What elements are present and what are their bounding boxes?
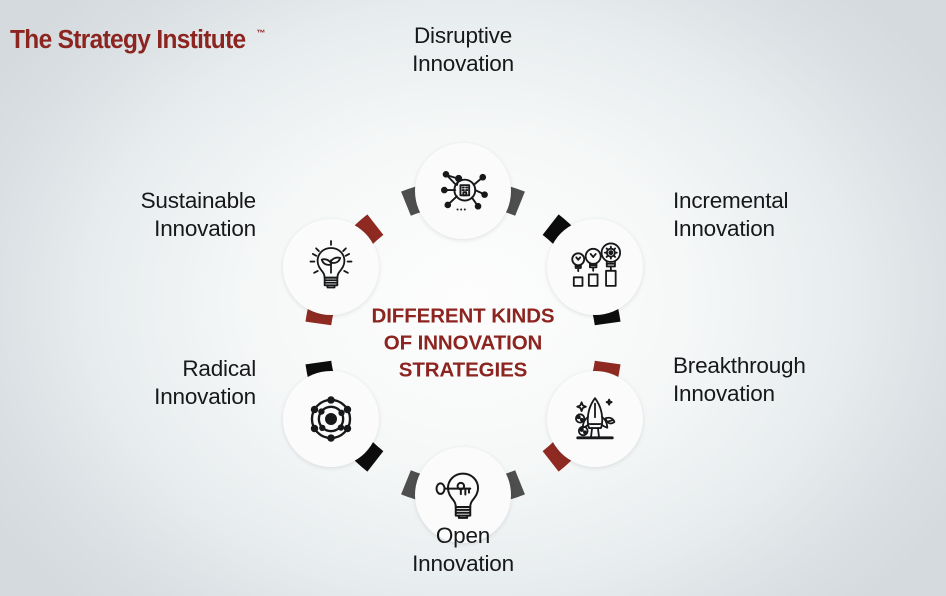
label-incremental: Incremental Innovation [673, 187, 788, 244]
label-sustainable: Sustainable Innovation [141, 187, 256, 244]
atom-molecule-icon [302, 390, 360, 448]
label-open-line-2: Innovation [412, 550, 514, 578]
innovation-strategies-wheel: DIFFERENT KINDS OF INNOVATION STRATEGIES [253, 133, 673, 553]
bulb-plant-icon [302, 238, 360, 296]
label-disruptive-line-2: Innovation [412, 50, 514, 78]
label-open-line-1: Open [412, 522, 514, 550]
brand-name: The Strategy Institute [10, 28, 246, 54]
label-sustainable-line-1: Sustainable [141, 187, 256, 215]
label-radical-line-1: Radical [154, 355, 256, 383]
label-sustainable-line-2: Innovation [141, 215, 256, 243]
node-sustainable[interactable] [283, 219, 379, 315]
label-breakthrough: Breakthrough Innovation [673, 352, 806, 409]
label-breakthrough-line-2: Innovation [673, 380, 806, 408]
node-incremental[interactable] [547, 219, 643, 315]
label-radical-line-2: Innovation [154, 383, 256, 411]
label-open: Open Innovation [412, 522, 514, 579]
node-disruptive[interactable] [415, 143, 511, 239]
node-breakthrough[interactable] [547, 371, 643, 467]
growing-bulbs-chart-icon [566, 238, 624, 296]
network-building-icon [434, 162, 492, 220]
trademark-symbol: ™ [256, 29, 265, 38]
node-radical[interactable] [283, 371, 379, 467]
infographic-canvas: The Strategy Institute ™ DIFFERENT KINDS… [0, 0, 946, 596]
label-breakthrough-line-1: Breakthrough [673, 352, 806, 380]
label-radical: Radical Innovation [154, 355, 256, 412]
brand-logo: The Strategy Institute ™ [10, 28, 265, 54]
label-disruptive: Disruptive Innovation [412, 22, 514, 79]
label-incremental-line-2: Innovation [673, 215, 788, 243]
rocket-launch-icon [566, 390, 624, 448]
label-disruptive-line-1: Disruptive [412, 22, 514, 50]
label-incremental-line-1: Incremental [673, 187, 788, 215]
bulb-key-icon [434, 466, 492, 524]
